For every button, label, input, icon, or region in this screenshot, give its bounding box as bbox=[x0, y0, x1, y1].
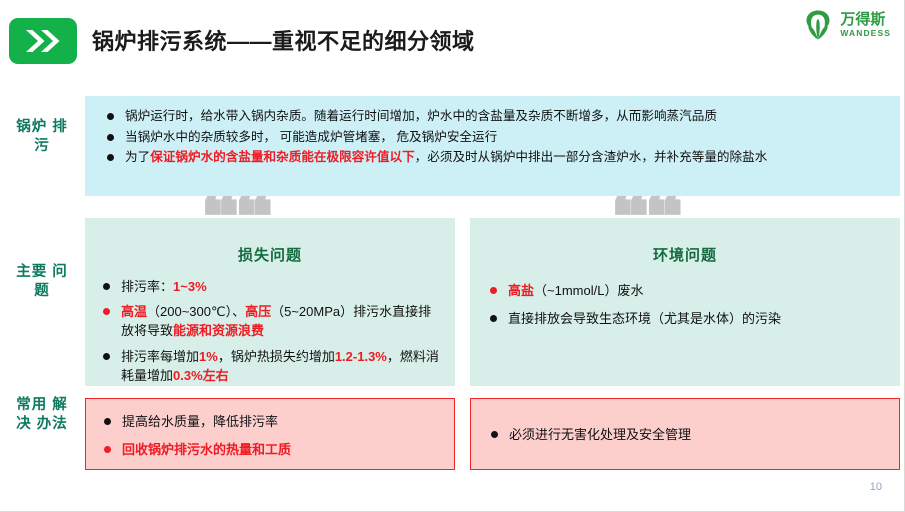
wandess-leaf-logo-icon bbox=[801, 8, 835, 42]
panel-environment-problems: 环境问题 高盐（~1mmol/L）废水直接排放会导致生态环境（尤其是水体）的污染 bbox=[470, 218, 900, 386]
bullet-text-run: 排污率： bbox=[121, 279, 173, 294]
bullet-item: 高温（200~300℃）、高压（5~20MPa）排污水直接排放将导致能源和资源浪… bbox=[97, 302, 443, 340]
bullet-text-run: 排污率每增加 bbox=[121, 349, 199, 364]
bullet-text-run: 锅炉运行时，给水带入锅内杂质。随着运行时间增加，炉水中的含盐量及杂质不断增多，从… bbox=[125, 109, 717, 123]
bullet-text-run: （~1mmol/L）废水 bbox=[534, 283, 643, 298]
bullet-text-run: 直接排放会导致生态环境（尤其是水体）的污染 bbox=[508, 311, 781, 326]
panel-boiler-blowdown: 锅炉运行时，给水带入锅内杂质。随着运行时间增加，炉水中的含盐量及杂质不断增多，从… bbox=[85, 96, 900, 196]
logo-name-en: WANDESS bbox=[840, 29, 891, 38]
bullet-text-run: 能源和资源浪费 bbox=[173, 323, 264, 338]
bullet-text-run: 当锅炉水中的杂质较多时， 可能造成炉管堵塞， 危及锅炉安全运行 bbox=[125, 130, 497, 144]
bullet-text-run: 提高给水质量，降低排污率 bbox=[122, 414, 278, 429]
bullet-text-run: 1% bbox=[199, 349, 218, 364]
bullet-text-run: （200~300℃）、 bbox=[147, 304, 245, 319]
bullet-list: 必须进行无害化处理及安全管理 bbox=[485, 425, 887, 445]
page-title: 锅炉排污系统——重视不足的细分领域 bbox=[92, 24, 475, 56]
bullet-text-run: 高温 bbox=[121, 304, 147, 319]
bullet-text-run: 为了 bbox=[125, 150, 150, 164]
bullet-text-run: 高盐 bbox=[508, 283, 534, 298]
bullet-item: 直接排放会导致生态环境（尤其是水体）的污染 bbox=[484, 309, 888, 329]
bullet-list: 高盐（~1mmol/L）废水直接排放会导致生态环境（尤其是水体）的污染 bbox=[484, 281, 888, 328]
bullet-item: 为了保证锅炉水的含盐量和杂质能在极限容许值以下，必须及时从锅炉中排出一部分含渣炉… bbox=[101, 148, 886, 167]
logo-name-cn: 万得斯 bbox=[840, 12, 891, 27]
bullet-text-run: 0.3%左右 bbox=[173, 368, 229, 383]
bullet-list: 锅炉运行时，给水带入锅内杂质。随着运行时间增加，炉水中的含盐量及杂质不断增多，从… bbox=[101, 107, 886, 167]
slide-canvas: 锅炉排污系统——重视不足的细分领域 万得斯 WANDESS 锅炉 排污 主要 问… bbox=[0, 0, 905, 512]
bullet-text-run: 1~3% bbox=[173, 279, 207, 294]
sidebar-item-common-solutions: 常用 解决 办法 bbox=[14, 396, 70, 433]
panel-heading-loss: 损失问题 bbox=[85, 244, 455, 265]
bullet-text-run: ，锅炉热损失约增加 bbox=[218, 349, 335, 364]
bullet-text-run: ，必须及时从锅炉中排出一部分含渣炉水，并补充等量的除盐水 bbox=[415, 150, 768, 164]
sidebar-item-main-problems: 主要 问题 bbox=[14, 263, 70, 300]
panel-solutions-loss: 提高给水质量，降低排污率回收锅炉排污水的热量和工质 bbox=[85, 398, 455, 470]
double-chevron-right-icon bbox=[9, 18, 77, 64]
bullet-list: 提高给水质量，降低排污率回收锅炉排污水的热量和工质 bbox=[98, 412, 442, 459]
panel-loss-problems: 损失问题 排污率：1~3%高温（200~300℃）、高压（5~20MPa）排污水… bbox=[85, 218, 455, 386]
slide-header: 锅炉排污系统——重视不足的细分领域 万得斯 WANDESS bbox=[0, 0, 905, 78]
bullet-item: 排污率每增加1%，锅炉热损失约增加1.2-1.3%，燃料消耗量增加0.3%左右 bbox=[97, 347, 443, 385]
bullet-list: 排污率：1~3%高温（200~300℃）、高压（5~20MPa）排污水直接排放将… bbox=[97, 277, 443, 385]
bullet-item: 必须进行无害化处理及安全管理 bbox=[485, 425, 887, 445]
bullet-item: 高盐（~1mmol/L）废水 bbox=[484, 281, 888, 301]
panel-heading-environment: 环境问题 bbox=[470, 244, 900, 265]
bullet-text-run: 保证锅炉水的含盐量和杂质能在极限容许值以下 bbox=[150, 150, 414, 164]
bullet-item: 回收锅炉排污水的热量和工质 bbox=[98, 440, 442, 460]
bullet-item: 提高给水质量，降低排污率 bbox=[98, 412, 442, 432]
bullet-text-run: 回收锅炉排污水的热量和工质 bbox=[122, 442, 291, 457]
bullet-text-run: 高压 bbox=[245, 304, 271, 319]
bullet-text-run: 1.2-1.3% bbox=[335, 349, 387, 364]
brand-logo: 万得斯 WANDESS bbox=[801, 8, 891, 42]
bullet-item: 当锅炉水中的杂质较多时， 可能造成炉管堵塞， 危及锅炉安全运行 bbox=[101, 128, 886, 147]
bullet-item: 排污率：1~3% bbox=[97, 277, 443, 296]
page-number: 10 bbox=[870, 481, 882, 493]
bullet-item: 锅炉运行时，给水带入锅内杂质。随着运行时间增加，炉水中的含盐量及杂质不断增多，从… bbox=[101, 107, 886, 126]
sidebar-item-boiler-blowdown: 锅炉 排污 bbox=[14, 118, 70, 155]
panel-solutions-environment: 必须进行无害化处理及安全管理 bbox=[470, 398, 900, 470]
bullet-text-run: 必须进行无害化处理及安全管理 bbox=[509, 427, 691, 442]
